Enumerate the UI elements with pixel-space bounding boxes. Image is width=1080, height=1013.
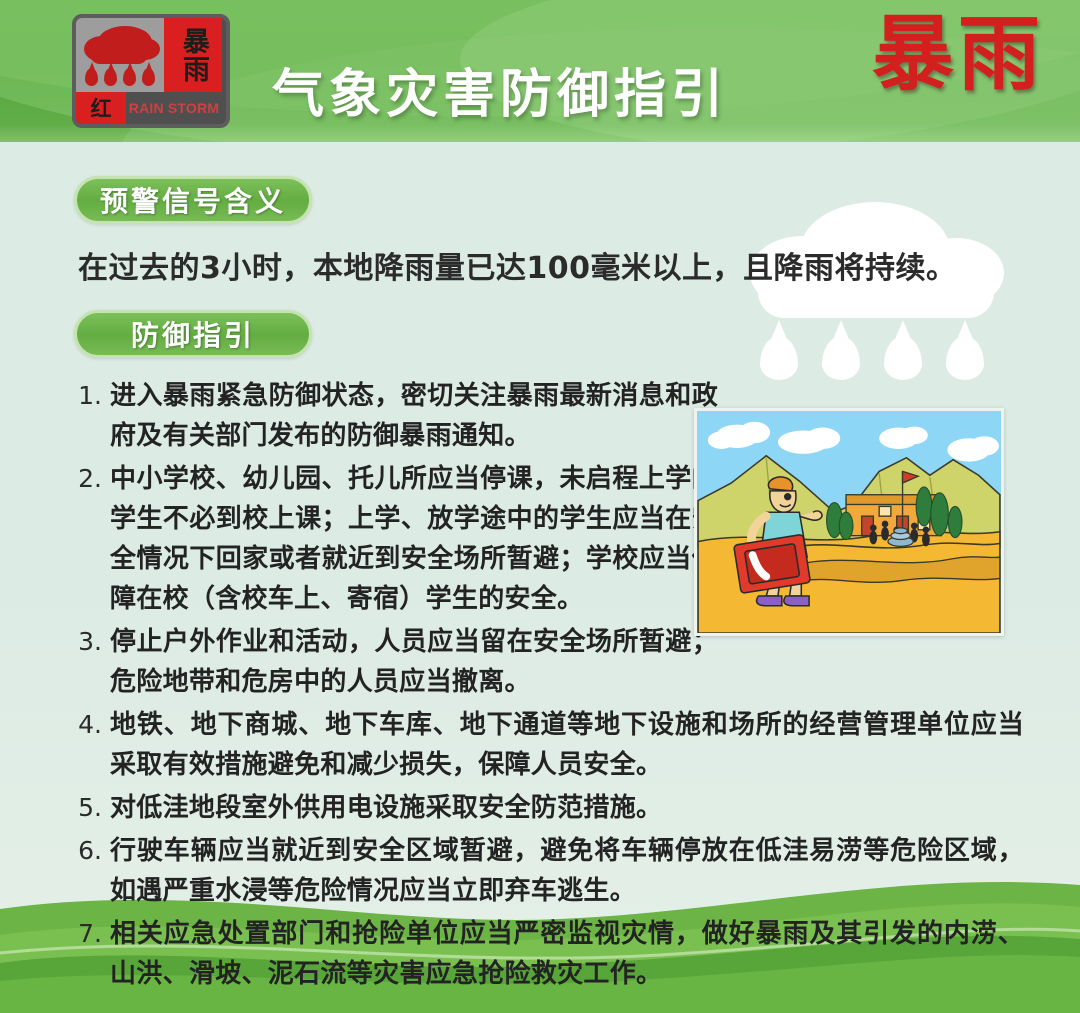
guideline-text: 地铁、地下商城、地下车库、地下通道等地下设施和场所的经营管理单位应当采取有效措施… bbox=[102, 705, 1024, 785]
section-pill-meaning-label: 预警信号含义 bbox=[100, 180, 286, 220]
meaning-text: 在过去的3小时，本地降雨量已达100毫米以上，且降雨将持续。 bbox=[78, 243, 1018, 287]
section-pill-guidelines: 防御指引 bbox=[74, 310, 312, 358]
hazard-name: 暴雨 bbox=[872, 14, 1044, 96]
guideline-number: 7. bbox=[72, 914, 102, 954]
rain-cloud-icon bbox=[76, 18, 164, 92]
guideline-text: 进入暴雨紧急防御状态，密切关注暴雨最新消息和政府及有关部门发布的防御暴雨通知。 bbox=[102, 376, 718, 456]
poster: 暴雨 红 RAIN STORM 气象灾害防御指引 暴雨 预警信号含义 在过去的3… bbox=[0, 0, 1080, 1013]
signal-english-label: RAIN STORM bbox=[126, 92, 222, 124]
guideline-text: 对低洼地段室外供用电设施采取安全防范措施。 bbox=[102, 788, 1024, 828]
signal-hazard-text: 暴雨 bbox=[180, 27, 206, 83]
page-title: 气象灾害防御指引 bbox=[272, 52, 728, 127]
guideline-number: 2. bbox=[72, 459, 102, 499]
guideline-item: 5.对低洼地段室外供用电设施采取安全防范措施。 bbox=[72, 788, 1024, 828]
section-pill-meaning: 预警信号含义 bbox=[74, 176, 312, 224]
guideline-number: 5. bbox=[72, 788, 102, 828]
guideline-number: 3. bbox=[72, 622, 102, 662]
guideline-text: 停止户外作业和活动，人员应当留在安全场所暂避；危险地带和危房中的人员应当撤离。 bbox=[102, 622, 718, 702]
student-returning-to-school-illustration bbox=[694, 408, 1004, 636]
guideline-text: 中小学校、幼儿园、托儿所应当停课，未启程上学的学生不必到校上课；上学、放学途中的… bbox=[102, 459, 718, 619]
guideline-number: 6. bbox=[72, 831, 102, 871]
section-pill-guidelines-label: 防御指引 bbox=[131, 314, 255, 354]
signal-level-badge: 红 bbox=[76, 92, 126, 124]
signal-english-text: RAIN STORM bbox=[129, 100, 219, 116]
rainstorm-red-signal-icon: 暴雨 红 RAIN STORM bbox=[72, 14, 230, 128]
guideline-text: 行驶车辆应当就近到安全区域暂避，避免将车辆停放在低洼易涝等危险区域，如遇严重水浸… bbox=[102, 831, 1024, 911]
guideline-number: 1. bbox=[72, 376, 102, 416]
guideline-text: 相关应急处置部门和抢险单位应当严密监视灾情，做好暴雨及其引发的内涝、山洪、滑坡、… bbox=[102, 914, 1024, 994]
guideline-number: 4. bbox=[72, 705, 102, 745]
guideline-item: 4.地铁、地下商城、地下车库、地下通道等地下设施和场所的经营管理单位应当采取有效… bbox=[72, 705, 1024, 785]
guideline-item: 7.相关应急处置部门和抢险单位应当严密监视灾情，做好暴雨及其引发的内涝、山洪、滑… bbox=[72, 914, 1024, 994]
signal-hazard-label: 暴雨 bbox=[164, 18, 222, 92]
guideline-item: 6.行驶车辆应当就近到安全区域暂避，避免将车辆停放在低洼易涝等危险区域，如遇严重… bbox=[72, 831, 1024, 911]
signal-level-text: 红 bbox=[91, 93, 112, 123]
